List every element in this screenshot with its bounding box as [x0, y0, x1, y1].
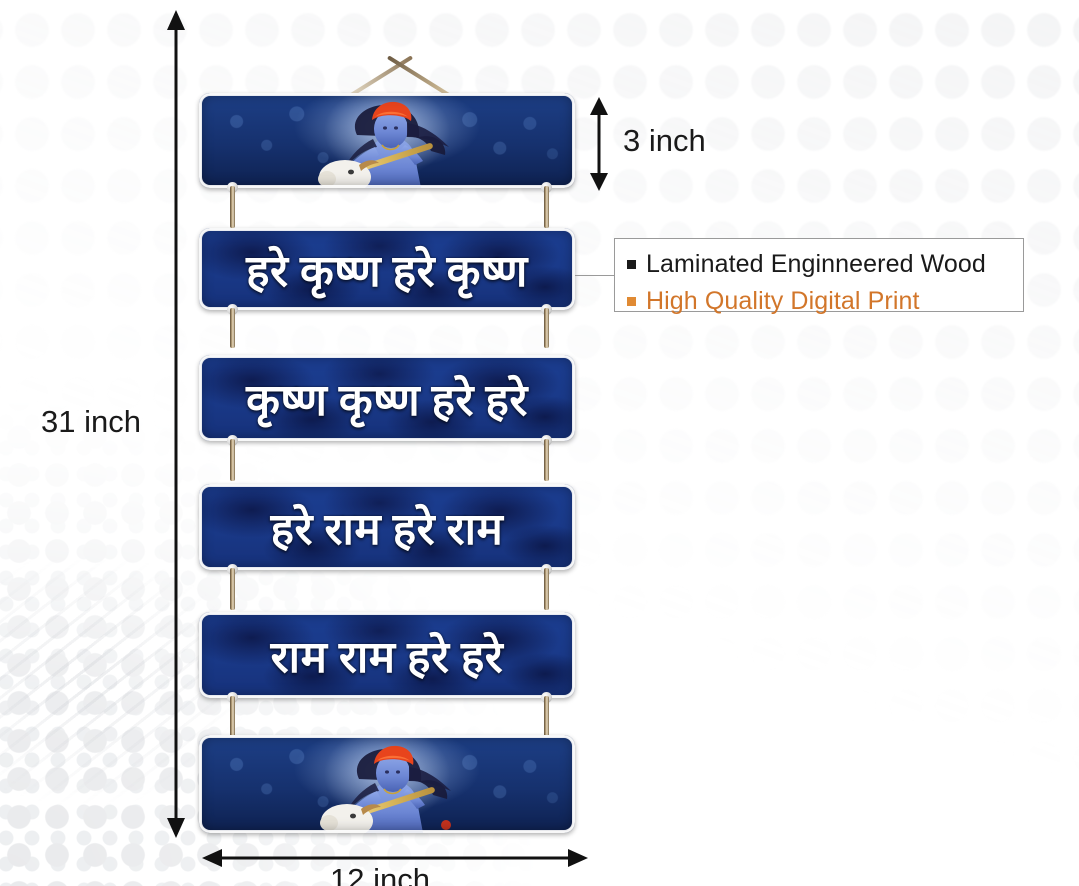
panel-mantra-2: कृष्ण कृष्ण हरे हरे: [199, 355, 575, 441]
panel-krishna-bottom: [199, 735, 575, 833]
mantra-text: हरे कृष्ण हरे कृष्ण: [199, 228, 575, 310]
callout-label-material: Laminated Enginneered Wood: [646, 249, 986, 280]
mantra-text: हरे राम हरे राम: [199, 484, 575, 570]
callout-leader-line: [575, 275, 615, 276]
bullet-square-icon: [627, 297, 636, 306]
callout-label-print: High Quality Digital Print: [646, 286, 920, 317]
rope-connector: [544, 186, 549, 228]
height-dimension-arrow: [160, 8, 192, 840]
krishna-illustration: [199, 735, 575, 833]
mantra-text: कृष्ण कृष्ण हरे हरे: [199, 355, 575, 441]
callout-item-material: Laminated Enginneered Wood: [627, 249, 1009, 280]
bullet-square-icon: [627, 260, 636, 269]
panel-height-label: 3 inch: [623, 123, 706, 159]
height-label: 31 inch: [41, 404, 141, 440]
rope-connector: [230, 568, 235, 610]
rope-connector: [544, 439, 549, 481]
product-dimension-diagram: हरे कृष्ण हरे कृष्ण कृष्ण कृष्ण हरे हरे …: [0, 0, 1079, 886]
width-label: 12 inch: [330, 862, 430, 886]
rope-connector: [230, 696, 235, 738]
material-callout-box: Laminated Enginneered Wood High Quality …: [614, 238, 1024, 312]
rope-connector: [544, 308, 549, 348]
callout-item-print: High Quality Digital Print: [627, 286, 1009, 317]
panel-mantra-4: राम राम हरे हरे: [199, 612, 575, 698]
mantra-text: राम राम हरे हरे: [199, 612, 575, 698]
rope-connector: [230, 439, 235, 481]
panel-krishna-top: [199, 93, 575, 188]
krishna-illustration: [199, 93, 575, 188]
rope-connector: [230, 186, 235, 228]
panel-mantra-3: हरे राम हरे राम: [199, 484, 575, 570]
rope-connector: [230, 308, 235, 348]
rope-connector: [544, 696, 549, 738]
panel-height-dimension-arrow: [586, 96, 612, 192]
rope-connector: [544, 568, 549, 610]
panel-mantra-1: हरे कृष्ण हरे कृष्ण: [199, 228, 575, 310]
